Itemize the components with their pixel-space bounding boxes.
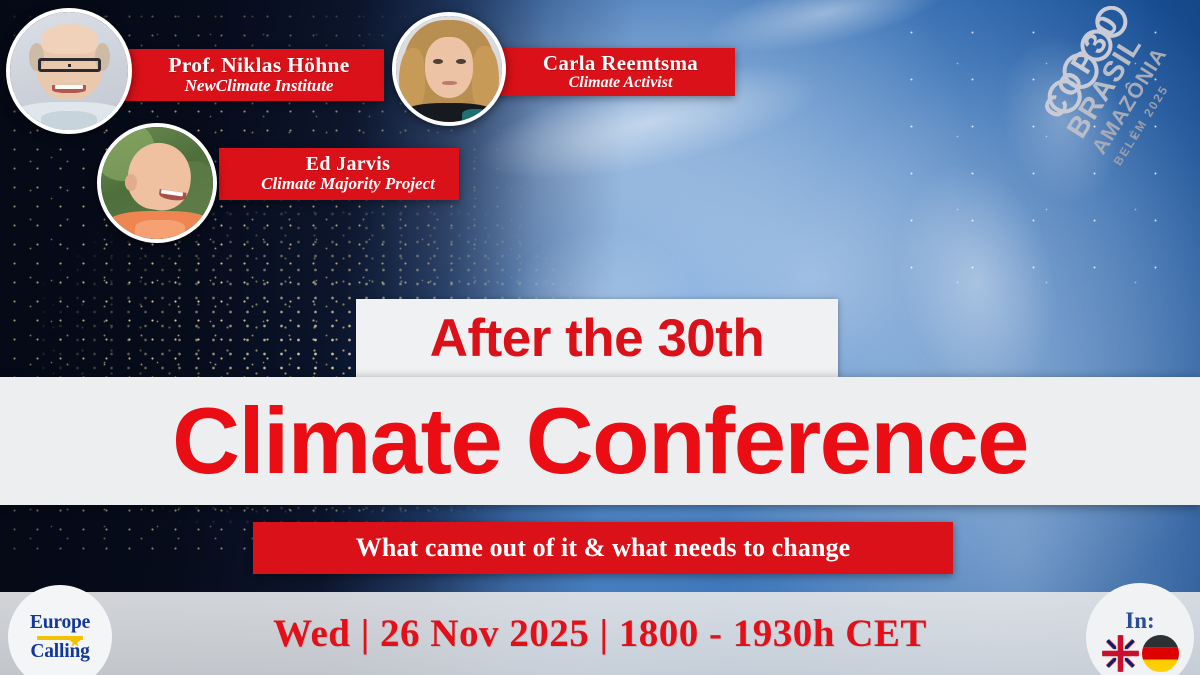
stars-overlay — [870, 0, 1200, 300]
subtitle-band: What came out of it & what needs to chan… — [253, 522, 953, 574]
germany-flag-icon — [1142, 635, 1179, 672]
speaker-portrait-1 — [6, 8, 132, 134]
speaker-name-2: Carla Reemtsma — [543, 52, 698, 74]
title-band-line2: Climate Conference — [0, 377, 1200, 505]
flag-list — [1102, 635, 1179, 672]
brand-word-europe: Europe — [30, 613, 90, 633]
footer-bar: Wed | 26 Nov 2025 | 1800 - 1930h CET — [0, 592, 1200, 675]
title-line1: After the 30th — [430, 312, 765, 365]
title-band-line1: After the 30th — [356, 299, 838, 377]
speaker-name-3: Ed Jarvis — [306, 154, 390, 175]
speaker-label-3: Ed Jarvis Climate Majority Project — [219, 148, 459, 200]
speaker-role-3: Climate Majority Project — [261, 175, 435, 194]
speaker-label-1: Prof. Niklas Höhne NewClimate Institute — [106, 49, 384, 101]
speaker-label-2: Carla Reemtsma Climate Activist — [480, 48, 735, 96]
star-icon: ★ — [69, 635, 80, 648]
speaker-portrait-3 — [97, 123, 217, 243]
uk-flag-icon — [1102, 635, 1139, 672]
speaker-name-1: Prof. Niklas Höhne — [168, 54, 349, 77]
event-datetime: Wed | 26 Nov 2025 | 1800 - 1930h CET — [273, 611, 927, 656]
speaker-role-2: Climate Activist — [569, 74, 673, 92]
speaker-role-1: NewClimate Institute — [185, 77, 334, 96]
languages-label: In: — [1125, 609, 1154, 632]
event-poster: COP30 BRASIL AMAZÔNIA BELÉM 2025 Prof. N… — [0, 0, 1200, 675]
title-line2: Climate Conference — [172, 394, 1028, 488]
speaker-portrait-2 — [392, 12, 506, 126]
brand-word-calling: Calling ★ — [30, 642, 89, 662]
subtitle-text: What came out of it & what needs to chan… — [356, 533, 851, 563]
